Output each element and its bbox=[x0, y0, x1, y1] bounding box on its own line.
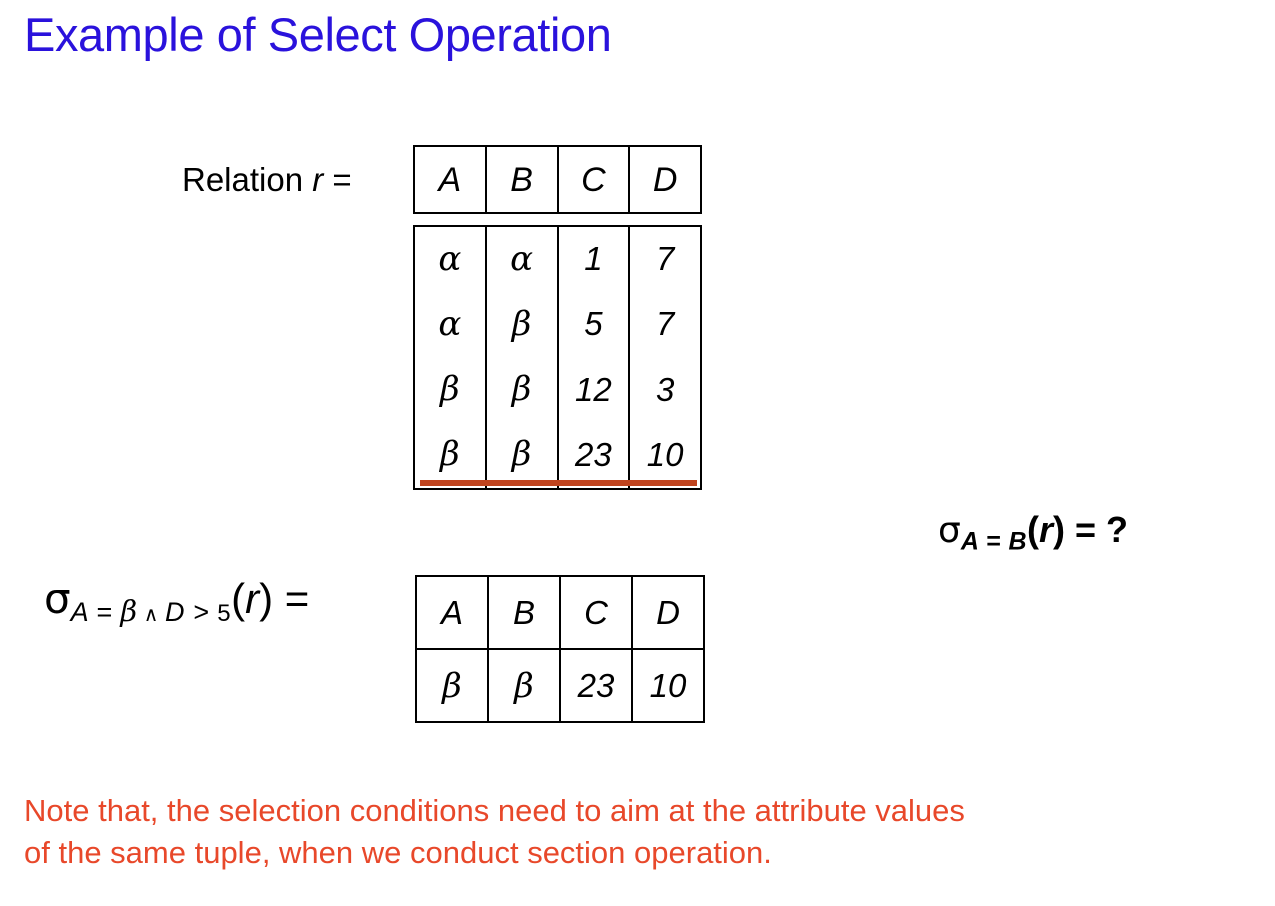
relation-r-col-d: 7 7 3 10 bbox=[630, 227, 700, 488]
sigma-tail-open: ( bbox=[231, 575, 245, 622]
sigma-operator-icon: σ bbox=[938, 510, 961, 551]
relation-r-header-col-d: D bbox=[630, 147, 700, 212]
table-cell: α bbox=[415, 227, 485, 292]
sigma-tail-close: ) = ? bbox=[1053, 509, 1128, 550]
sigma-subscript: A = B bbox=[961, 528, 1027, 556]
sigma-tail-variable: r bbox=[1039, 509, 1053, 550]
table-cell: 1 bbox=[559, 227, 629, 292]
table-cell: 3 bbox=[630, 358, 700, 423]
relation-label: Relation r = bbox=[182, 158, 352, 202]
relation-r-header-col-a: A bbox=[415, 147, 487, 212]
relation-label-suffix: = bbox=[323, 161, 351, 198]
table-cell: β bbox=[489, 650, 561, 721]
table-cell: 12 bbox=[559, 358, 629, 423]
table-cell: β bbox=[415, 358, 485, 423]
table-cell: 7 bbox=[630, 227, 700, 292]
sigma-tail-variable: r bbox=[245, 575, 259, 622]
sigma-subscript: A = β ∧ D > 5 bbox=[71, 597, 231, 627]
column-header-d: D bbox=[633, 577, 703, 648]
sigma-sub-attr2: D bbox=[165, 597, 185, 627]
column-header-a: A bbox=[415, 147, 485, 212]
column-header-c: C bbox=[559, 147, 629, 212]
relation-r-body-table: α α β β α β β β 1 5 12 23 7 7 3 10 bbox=[413, 225, 702, 490]
relation-r-col-b: α β β β bbox=[487, 227, 559, 488]
table-cell: α bbox=[487, 227, 557, 292]
column-header-b: B bbox=[487, 147, 557, 212]
sigma-sub-greater-than: > bbox=[185, 597, 217, 627]
column-header-c: C bbox=[561, 577, 633, 648]
relation-label-prefix: Relation bbox=[182, 161, 312, 198]
selected-row-underline bbox=[420, 480, 697, 486]
column-header-a: A bbox=[417, 577, 489, 648]
page-title: Example of Select Operation bbox=[24, 6, 1224, 64]
table-cell: 10 bbox=[630, 423, 700, 488]
table-cell: 10 bbox=[633, 650, 703, 721]
result-table-header-row: A B C D bbox=[417, 577, 703, 650]
table-cell: α bbox=[415, 292, 485, 357]
sigma-sub-and-icon: ∧ bbox=[138, 604, 165, 626]
relation-r-header-table: A B C D bbox=[413, 145, 702, 214]
sigma-tail-close: ) = bbox=[259, 575, 309, 622]
sigma-a-equals-b-expression: σA = B(r) = ? bbox=[938, 512, 1128, 555]
sigma-select-condition-expression: σA = β ∧ D > 5(r) = bbox=[44, 578, 309, 626]
table-cell: β bbox=[417, 650, 489, 721]
note-line-2: of the same tuple, when we conduct secti… bbox=[24, 832, 1254, 874]
relation-r-col-c: 1 5 12 23 bbox=[559, 227, 631, 488]
table-cell: 23 bbox=[559, 423, 629, 488]
table-cell: β bbox=[487, 358, 557, 423]
table-cell: 23 bbox=[561, 650, 633, 721]
result-table: A B C D β β 23 10 bbox=[415, 575, 705, 723]
table-cell: β bbox=[487, 423, 557, 488]
table-cell: β bbox=[415, 423, 485, 488]
sigma-sub-value1: β bbox=[120, 594, 137, 628]
relation-r-col-a: α α β β bbox=[415, 227, 487, 488]
column-header-d: D bbox=[630, 147, 700, 212]
relation-r-header-col-b: B bbox=[487, 147, 559, 212]
sigma-sub-attr1: A bbox=[71, 597, 89, 627]
table-cell: β bbox=[487, 292, 557, 357]
sigma-sub-equals: = bbox=[88, 597, 120, 627]
relation-label-variable: r bbox=[312, 161, 323, 198]
table-cell: 5 bbox=[559, 292, 629, 357]
sigma-sub-value2: 5 bbox=[217, 600, 231, 627]
note-line-1: Note that, the selection conditions need… bbox=[24, 790, 1254, 832]
relation-r-header-col-c: C bbox=[559, 147, 631, 212]
column-header-b: B bbox=[489, 577, 561, 648]
note-text: Note that, the selection conditions need… bbox=[24, 790, 1254, 874]
sigma-tail-open: ( bbox=[1027, 509, 1039, 550]
table-cell: 7 bbox=[630, 292, 700, 357]
sigma-operator-icon: σ bbox=[44, 574, 71, 623]
sigma-tail: (r) = ? bbox=[1027, 509, 1128, 550]
table-row: β β 23 10 bbox=[417, 650, 703, 721]
sigma-tail: (r) = bbox=[231, 575, 309, 622]
